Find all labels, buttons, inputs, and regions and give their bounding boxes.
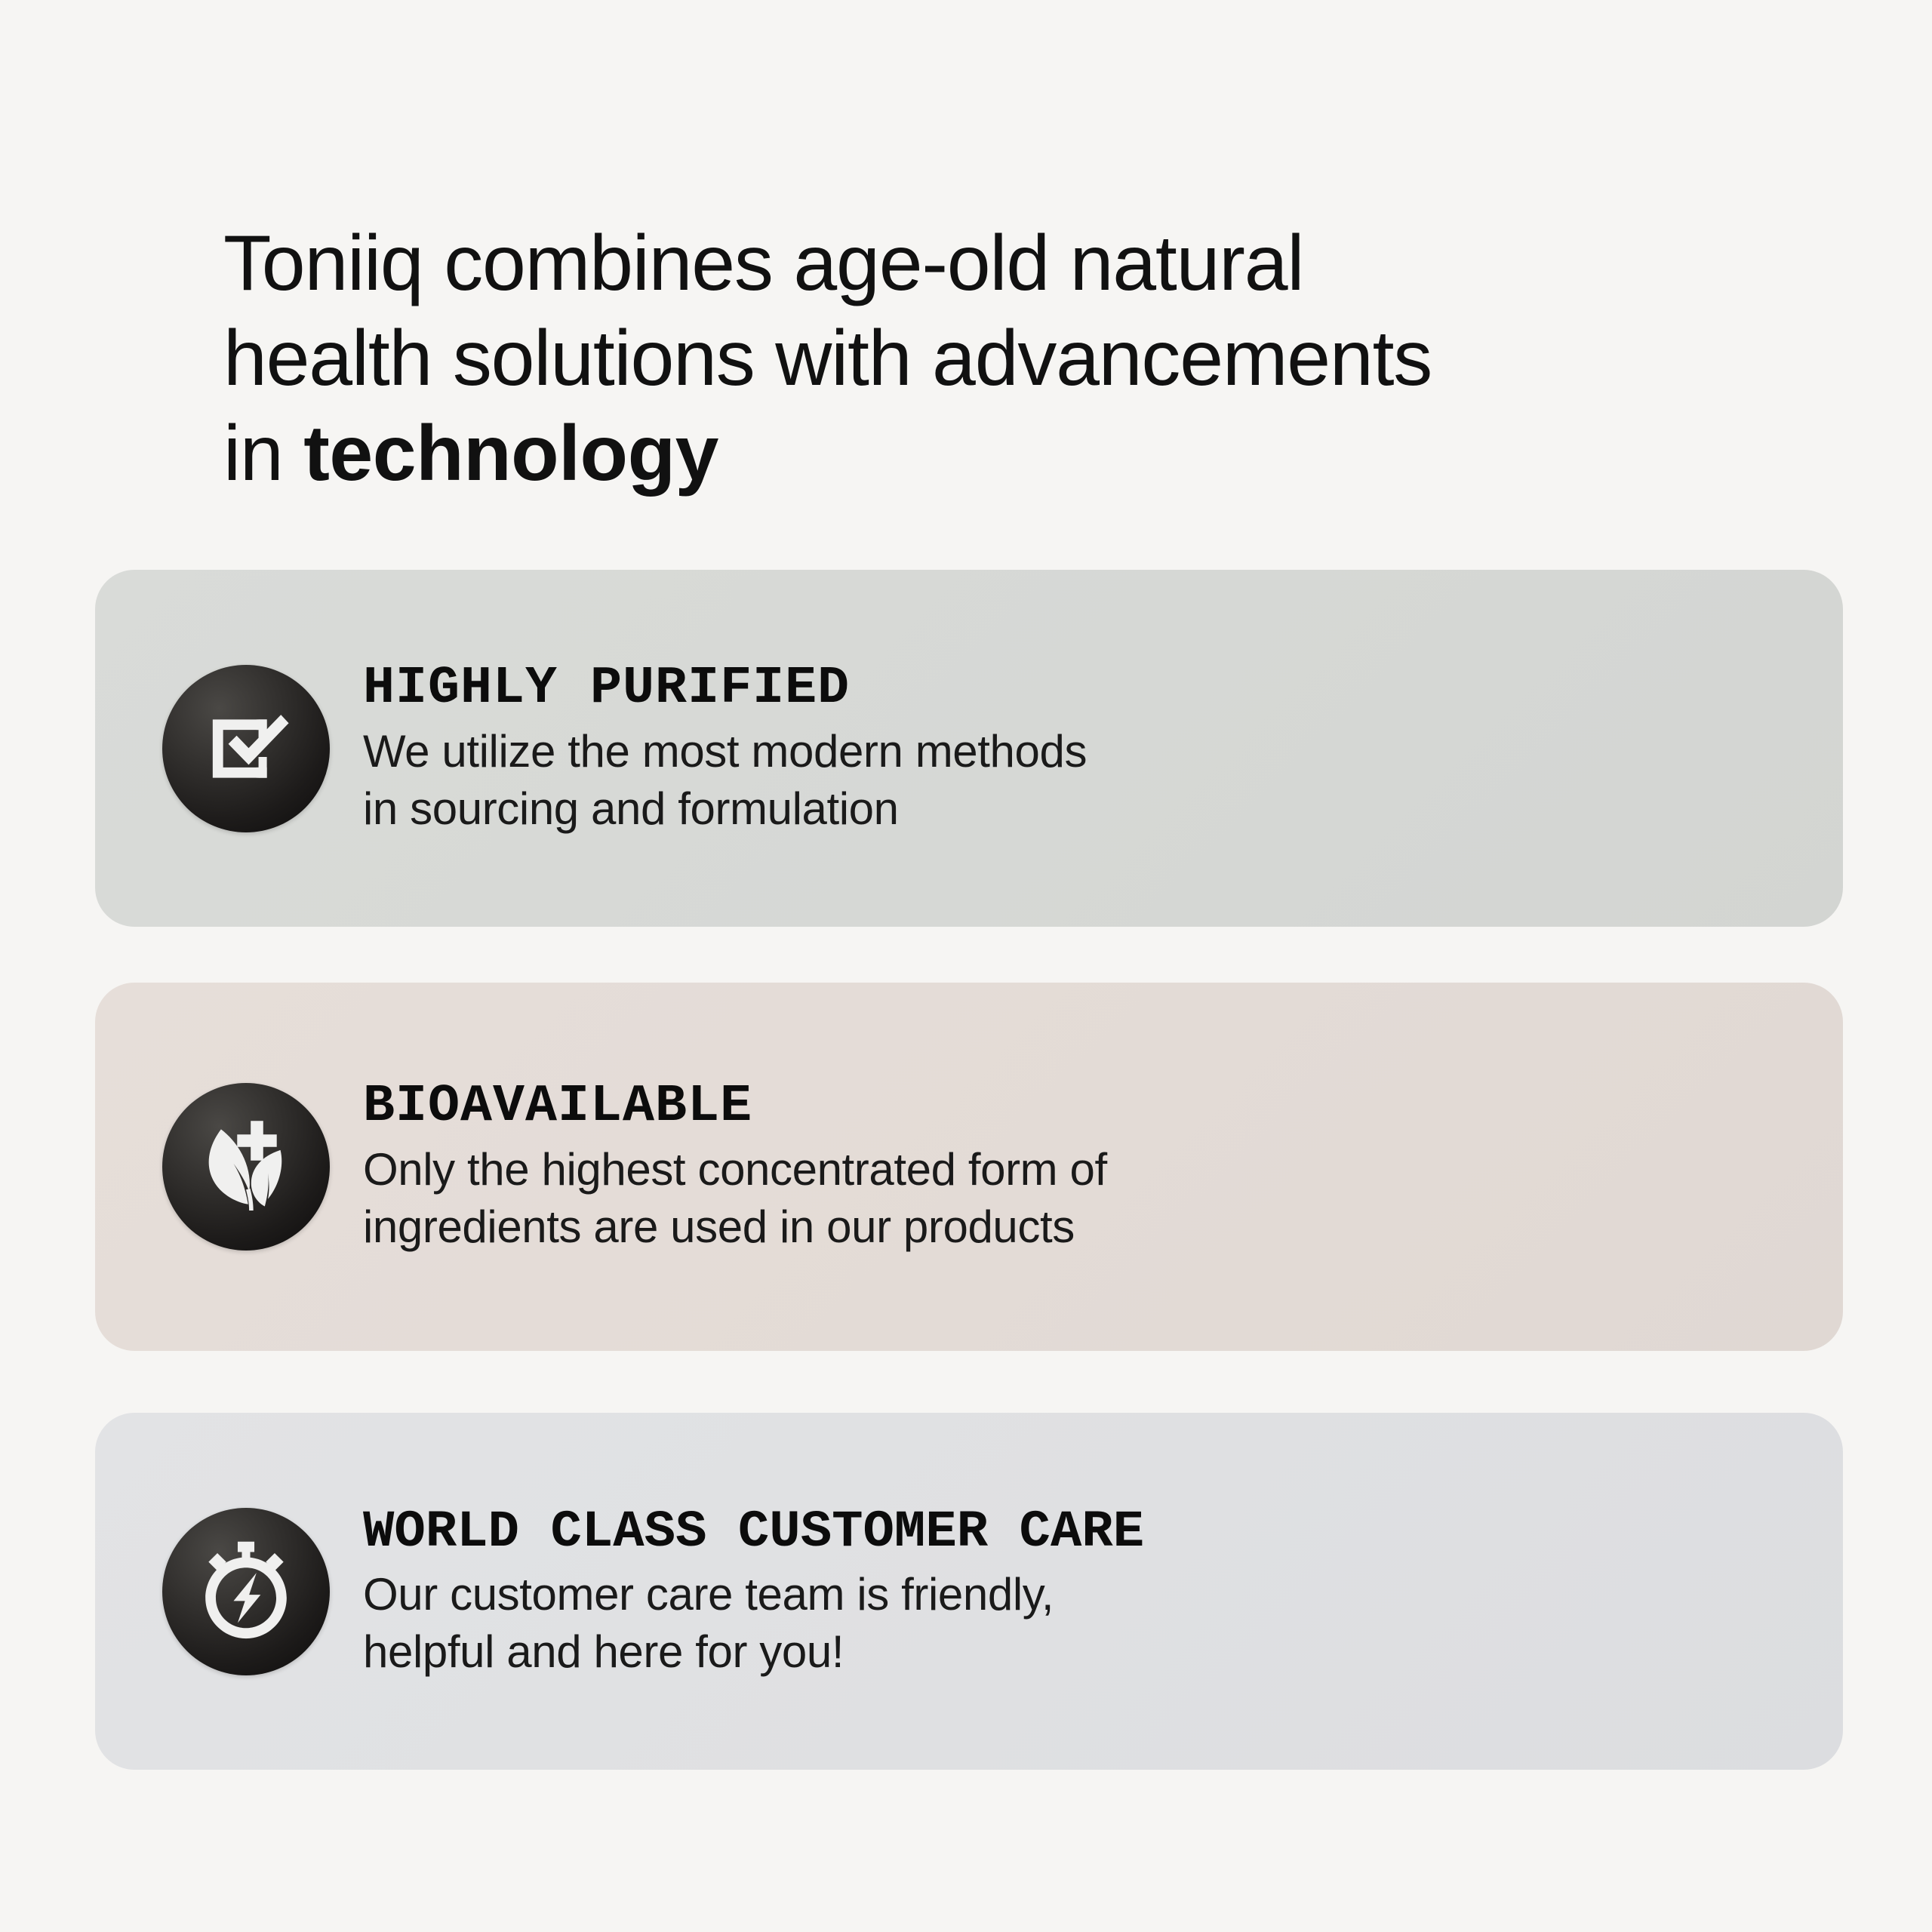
headline-line-1: Toniiq combines age-old natural	[223, 216, 1657, 311]
stopwatch-bolt-icon	[162, 1508, 330, 1675]
benefit-card-text: HIGHLY PURIFIED We utilize the most mode…	[363, 660, 1843, 838]
leaf-plus-icon	[162, 1083, 330, 1251]
checkbox-check-icon	[162, 665, 330, 832]
benefit-card-highly-purified[interactable]: HIGHLY PURIFIED We utilize the most mode…	[95, 570, 1843, 927]
benefit-card-description: Only the highest concentrated form of in…	[363, 1141, 1790, 1256]
headline-line-3-prefix: in	[223, 410, 303, 497]
benefit-card-description-line-2: ingredients are used in our products	[363, 1198, 1790, 1256]
benefit-card-description-line-1: Only the highest concentrated form of	[363, 1141, 1790, 1198]
benefit-card-description-line-2: helpful and here for you!	[363, 1623, 1790, 1681]
benefit-card-world-class-customer-care[interactable]: WORLD CLASS CUSTOMER CARE Our customer c…	[95, 1413, 1843, 1770]
benefit-card-text: BIOAVAILABLE Only the highest concentrat…	[363, 1078, 1843, 1256]
benefit-card-description: Our customer care team is friendly, help…	[363, 1566, 1790, 1681]
benefit-card-title: BIOAVAILABLE	[363, 1078, 1790, 1137]
headline-line-2: health solutions with advancements	[223, 311, 1657, 406]
page-root: Toniiq combines age-old natural health s…	[0, 0, 1932, 1932]
headline-emphasis-technology: technology	[303, 410, 718, 497]
page-title: Toniiq combines age-old natural health s…	[223, 216, 1657, 501]
benefit-card-bioavailable[interactable]: BIOAVAILABLE Only the highest concentrat…	[95, 983, 1843, 1351]
benefit-card-description-line-1: We utilize the most modern methods	[363, 723, 1790, 780]
benefit-card-description: We utilize the most modern methods in so…	[363, 723, 1790, 838]
benefit-card-description-line-2: in sourcing and formulation	[363, 780, 1790, 838]
headline-line-3: in technology	[223, 406, 1657, 501]
benefit-card-description-line-1: Our customer care team is friendly,	[363, 1566, 1790, 1623]
benefit-card-text: WORLD CLASS CUSTOMER CARE Our customer c…	[363, 1503, 1843, 1681]
benefit-card-list: HIGHLY PURIFIED We utilize the most mode…	[95, 570, 1843, 1770]
benefit-card-title: WORLD CLASS CUSTOMER CARE	[363, 1503, 1790, 1561]
benefit-card-title: HIGHLY PURIFIED	[363, 660, 1790, 718]
